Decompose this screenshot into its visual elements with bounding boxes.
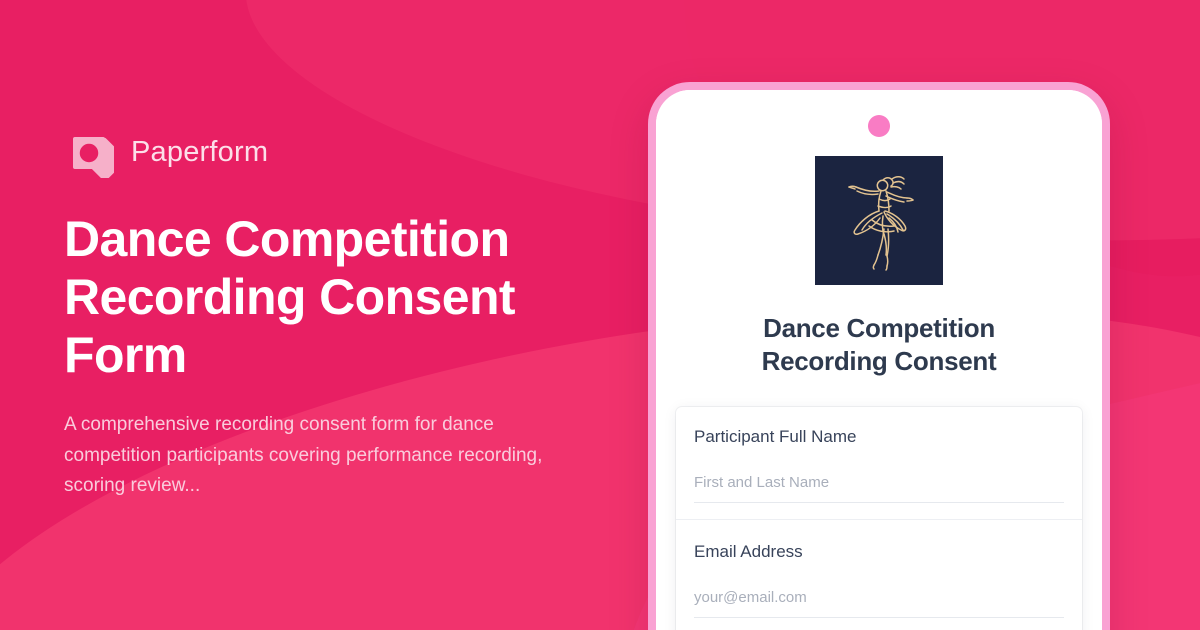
phone-screen: Dance Competition Recording Consent Part…: [656, 90, 1102, 630]
email-input[interactable]: your@email.com: [694, 589, 1064, 618]
page-title: Dance Competition Recording Consent Form: [64, 210, 584, 384]
camera-dot-icon: [868, 115, 890, 137]
participant-name-input[interactable]: First and Last Name: [694, 474, 1064, 503]
form-card: Participant Full Name First and Last Nam…: [676, 407, 1082, 630]
paperform-logo-icon: [64, 128, 114, 178]
form-field-participant-name[interactable]: Participant Full Name First and Last Nam…: [676, 407, 1082, 503]
share-card: Paperform Dance Competition Recording Co…: [0, 0, 1200, 630]
hero-content: Paperform Dance Competition Recording Co…: [64, 0, 624, 630]
field-label: Participant Full Name: [694, 427, 1064, 447]
brand-lockup: Paperform: [64, 128, 624, 178]
field-label: Email Address: [694, 542, 1064, 562]
page-description: A comprehensive recording consent form f…: [64, 410, 579, 502]
form-field-email[interactable]: Email Address your@email.com: [676, 519, 1082, 618]
phone-mockup: Dance Competition Recording Consent Part…: [648, 82, 1110, 630]
brand-name: Paperform: [131, 136, 268, 169]
ballerina-dancer-icon: [827, 166, 931, 276]
form-logo: [815, 156, 943, 285]
form-title: Dance Competition Recording Consent: [714, 312, 1044, 379]
